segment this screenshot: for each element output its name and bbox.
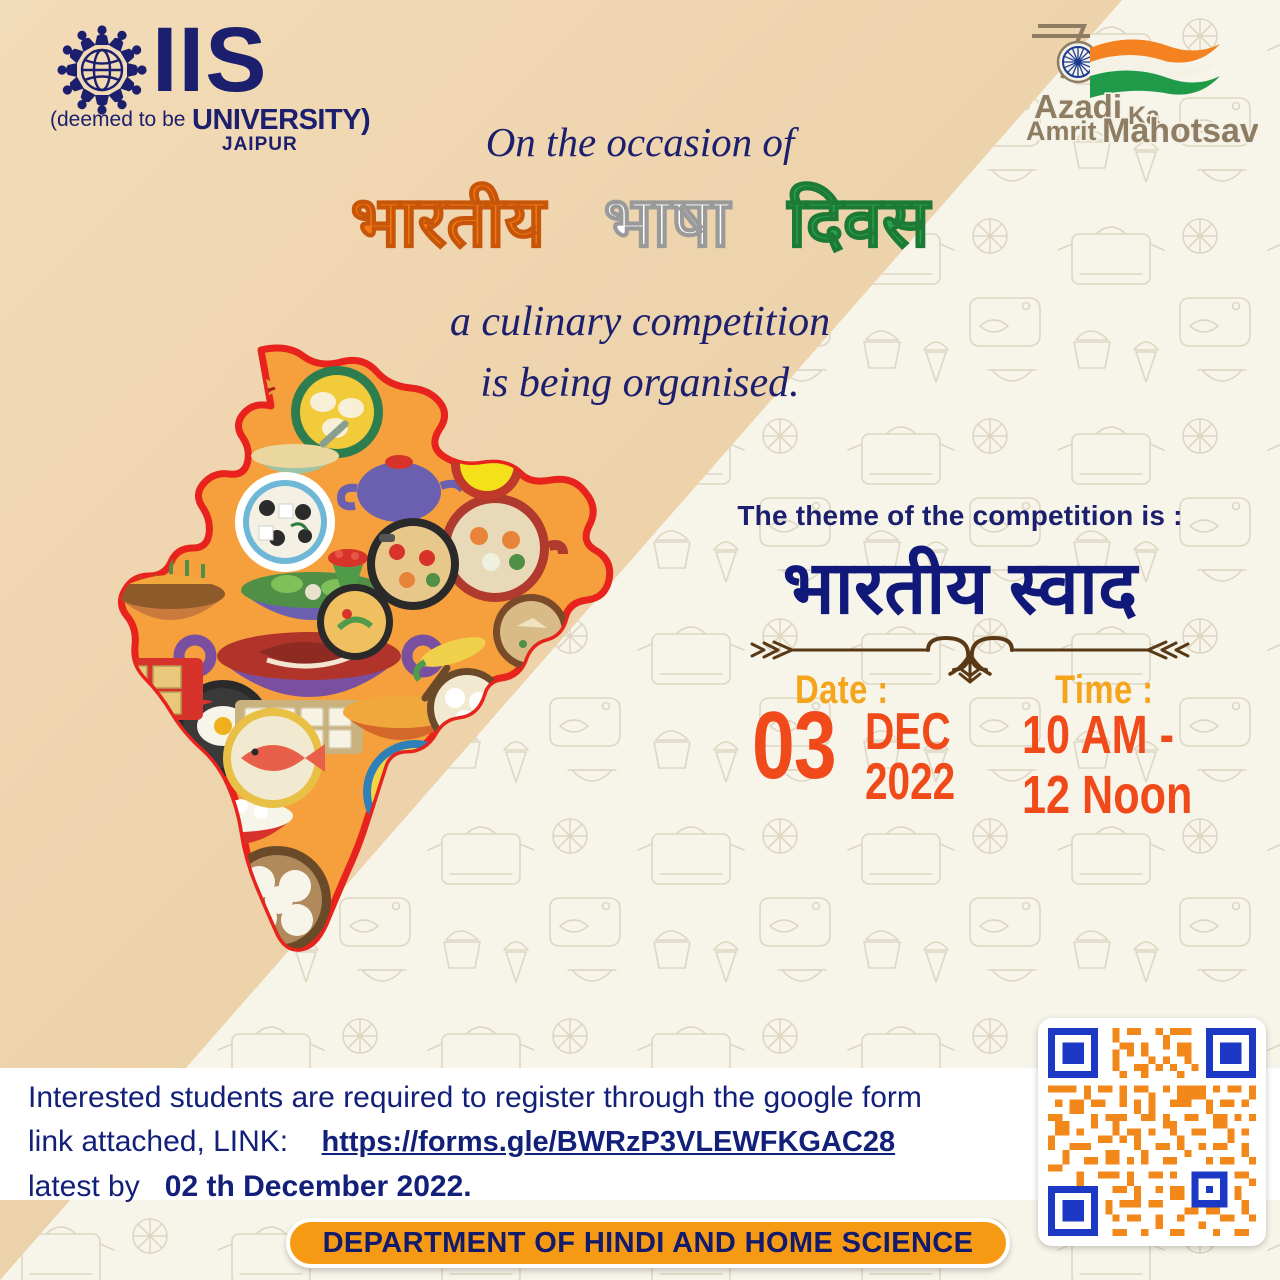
department-banner: DEPARTMENT OF HINDI AND HOME SCIENCE [286, 1218, 1010, 1268]
registration-deadline-prefix: latest by [28, 1170, 140, 1203]
iis-acronym: IIS [152, 14, 267, 106]
date-month-value: DEC [865, 706, 951, 758]
hindi-headline: भारतीय भाषा दिवस [300, 180, 980, 264]
theme-label: The theme of the competition is : [700, 500, 1220, 532]
india-map-with-regional-foods [55, 340, 695, 1060]
iis-city-text: JAIPUR [222, 134, 298, 156]
registration-form-link[interactable]: https://forms.gle/BWRzP3VLEWFKGAC28 [322, 1126, 896, 1158]
date-day-value: 03 [752, 698, 836, 794]
date-year-value: 2022 [865, 756, 955, 808]
food-yellow-curry-bowl [291, 366, 383, 458]
time-value-line-2: 12 Noon [1022, 768, 1192, 822]
food-olive-salad-plate [235, 472, 335, 572]
azadi-ka-amrit-mahotsav-logo: Azadi Ka Amrit Mahotsav [1018, 14, 1258, 144]
food-green-garnish-plate [75, 768, 139, 832]
azadi-word-amrit: Amrit [1026, 116, 1097, 144]
registration-instructions: Interested students are required to regi… [28, 1076, 988, 1209]
registration-deadline-date: 02 th December 2022. [165, 1170, 472, 1203]
iis-university-logo: IIS (deemed to be UNIVERSITY) JAIPUR [44, 20, 329, 150]
food-pulao-oval-pan [463, 728, 587, 812]
food-small-soup-bowl-left [75, 700, 151, 776]
food-taco-dish [317, 584, 393, 660]
registration-line-3: latest by 02 th December 2022. [28, 1165, 988, 1209]
registration-link-prefix: link attached, LINK: [28, 1125, 288, 1158]
theme-hindi-text: भारतीय स्वाद [690, 545, 1230, 630]
hindi-headline-word-2: भाषा [604, 183, 730, 261]
food-banana-leaf-meal [361, 828, 473, 884]
registration-qr-code[interactable] [1038, 1018, 1266, 1246]
registration-line-1: Interested students are required to regi… [28, 1076, 988, 1120]
food-sweet-squares-tray [111, 658, 203, 720]
food-coconut-curry-bowl [215, 982, 311, 1060]
azadi-word-mahotsav: Mahotsav [1102, 112, 1258, 144]
hindi-headline-word-3: दिवस [788, 183, 930, 261]
time-value-line-1: 10 AM - [1022, 708, 1174, 762]
food-prawn-bowl [157, 918, 253, 1014]
iis-deemed-text: (deemed to be [50, 108, 185, 132]
food-idli-steamer [223, 846, 331, 954]
food-cutting-board-fish [355, 924, 471, 1008]
registration-line-2: link attached, LINK: https://forms.gle/B… [28, 1120, 988, 1164]
hindi-headline-word-1: भारतीय [351, 183, 546, 261]
globe-with-people-emblem-icon [54, 22, 150, 118]
occasion-line: On the occasion of [340, 118, 940, 166]
poster-canvas: IIS (deemed to be UNIVERSITY) JAIPUR [0, 0, 1280, 1280]
